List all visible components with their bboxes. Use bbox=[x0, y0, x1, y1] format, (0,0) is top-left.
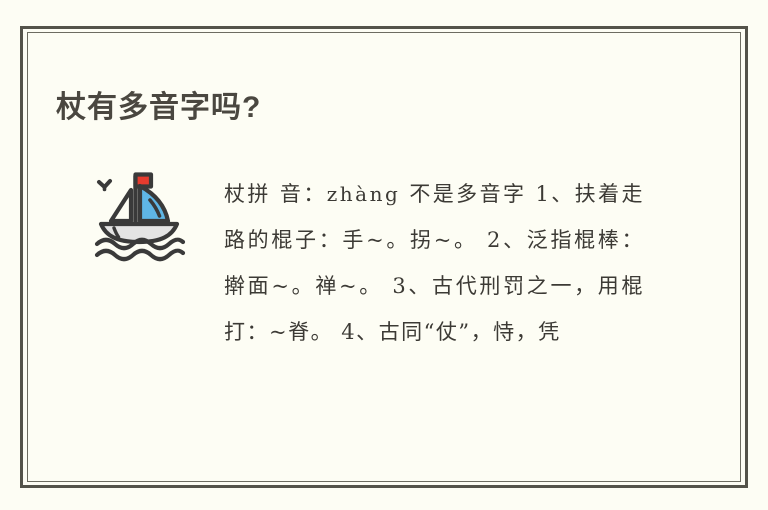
jib-sail-icon bbox=[111, 190, 131, 221]
page-root: 杖有多音字吗? bbox=[0, 0, 768, 510]
article-rest-text: 不是多音字 1、扶着走路的棍子：手~。拐~。 2、泛指棍棒：擀面~。禅~。 3、… bbox=[224, 182, 644, 344]
page-title: 杖有多音字吗? bbox=[56, 90, 261, 126]
sailboat-illustration bbox=[85, 162, 193, 264]
article-lead-text: 杖拼 音： bbox=[224, 182, 327, 206]
article-body: 杖拼 音：zhàng 不是多音字 1、扶着走路的棍子：手~。拐~。 2、泛指棍棒… bbox=[27, 150, 741, 400]
flag-icon bbox=[136, 175, 152, 187]
content-area: 杖有多音字吗? bbox=[27, 32, 741, 482]
pinyin-text: zhàng bbox=[327, 182, 401, 206]
article-text: 杖拼 音：zhàng 不是多音字 1、扶着走路的棍子：手~。拐~。 2、泛指棍棒… bbox=[224, 171, 644, 355]
sailboat-icon bbox=[85, 162, 193, 264]
wave-lower-icon bbox=[97, 251, 183, 260]
